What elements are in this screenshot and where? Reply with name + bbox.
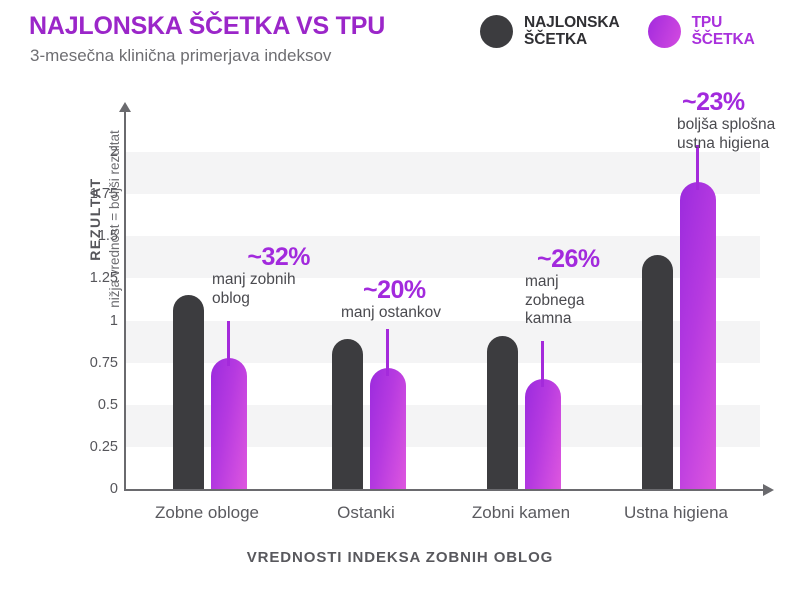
bar-tpu[interactable] — [680, 182, 716, 489]
annotation-3-desc-line2: ustna higiena — [677, 135, 769, 152]
legend-label-nylon: NAJLONSKA ŠČETKA — [524, 14, 620, 48]
chart-legend: NAJLONSKA ŠČETKA TPU ŠČETKA — [480, 14, 755, 48]
bar-tpu-errorbar — [227, 321, 230, 366]
annotation-2-desc-line3: kamna — [525, 310, 572, 327]
legend-item-tpu[interactable]: TPU ŠČETKA — [648, 14, 755, 48]
y-tick-label: 0 — [18, 481, 118, 497]
annotation-3-desc: boljša splošna ustna higiena — [677, 116, 800, 153]
bar-nylon[interactable] — [487, 336, 518, 489]
bar-nylon[interactable] — [332, 339, 363, 489]
y-tick-label: 0.75 — [18, 355, 118, 371]
annotation-2-desc-line2: zobnega — [525, 292, 584, 309]
bar-nylon[interactable] — [642, 255, 673, 489]
annotation-1: ~20% manj ostankov — [341, 276, 511, 323]
bar-tpu-errorbar — [386, 329, 389, 376]
x-axis-title: VREDNOSTI INDEKSA ZOBNIH OBLOG — [0, 549, 800, 566]
y-axis-line — [124, 108, 126, 491]
bar-tpu[interactable] — [525, 379, 561, 489]
annotation-3-desc-line1: boljša splošna — [677, 116, 775, 133]
annotation-2-desc: manj zobnega kamna — [525, 273, 645, 329]
annotation-3: ~23% boljša splošna ustna higiena — [677, 88, 800, 153]
x-category-label: Zobni kamen — [431, 503, 611, 523]
grid-band — [125, 152, 760, 194]
annotation-2: ~26% manj zobnega kamna — [525, 245, 645, 329]
x-category-label: Ostanki — [276, 503, 456, 523]
annotation-0-desc-line1: manj zobnih — [212, 271, 296, 288]
y-axis-title-sub: nižja vrednost = boljši rezultat — [105, 109, 124, 329]
annotation-1-desc-line1: manj ostankov — [341, 304, 441, 321]
legend-label-tpu-line2: ŠČETKA — [692, 31, 755, 48]
legend-label-tpu-line1: TPU — [692, 14, 723, 31]
x-axis-line — [125, 489, 765, 491]
legend-label-nylon-line1: NAJLONSKA — [524, 14, 620, 31]
x-category-label: Ustna higiena — [586, 503, 766, 523]
annotation-3-percent: ~23% — [677, 88, 800, 116]
bar-tpu[interactable] — [370, 368, 406, 489]
y-axis-title: REZULTAT nižja vrednost = boljši rezulta… — [86, 109, 124, 329]
y-axis-title-main: REZULTAT — [86, 109, 105, 329]
x-category-label: Zobne obloge — [117, 503, 297, 523]
chart-canvas: NAJLONSKA ŠČETKA VS TPU 3-mesečna klinič… — [0, 0, 800, 599]
bar-nylon[interactable] — [173, 295, 204, 489]
annotation-1-percent: ~20% — [341, 276, 511, 304]
y-tick-label: 0.5 — [18, 397, 118, 413]
y-tick-label: 0.25 — [18, 439, 118, 455]
legend-item-nylon[interactable]: NAJLONSKA ŠČETKA — [480, 14, 620, 48]
annotation-0: ~32% manj zobnih oblog — [160, 243, 310, 308]
legend-label-tpu: TPU ŠČETKA — [692, 14, 755, 48]
annotation-0-percent: ~32% — [160, 243, 310, 271]
legend-dot-icon-nylon — [480, 15, 513, 48]
bar-tpu[interactable] — [211, 358, 247, 489]
annotation-0-desc: manj zobnih oblog — [160, 271, 310, 308]
legend-label-nylon-line2: ŠČETKA — [524, 31, 587, 48]
annotation-2-percent: ~26% — [525, 245, 645, 273]
annotation-2-desc-line1: manj — [525, 273, 559, 290]
annotation-0-desc-line2: oblog — [212, 290, 250, 307]
annotation-1-desc: manj ostankov — [341, 304, 511, 323]
bar-tpu-errorbar — [541, 341, 544, 388]
legend-dot-icon-tpu — [648, 15, 681, 48]
x-axis-arrow-icon — [763, 484, 774, 496]
